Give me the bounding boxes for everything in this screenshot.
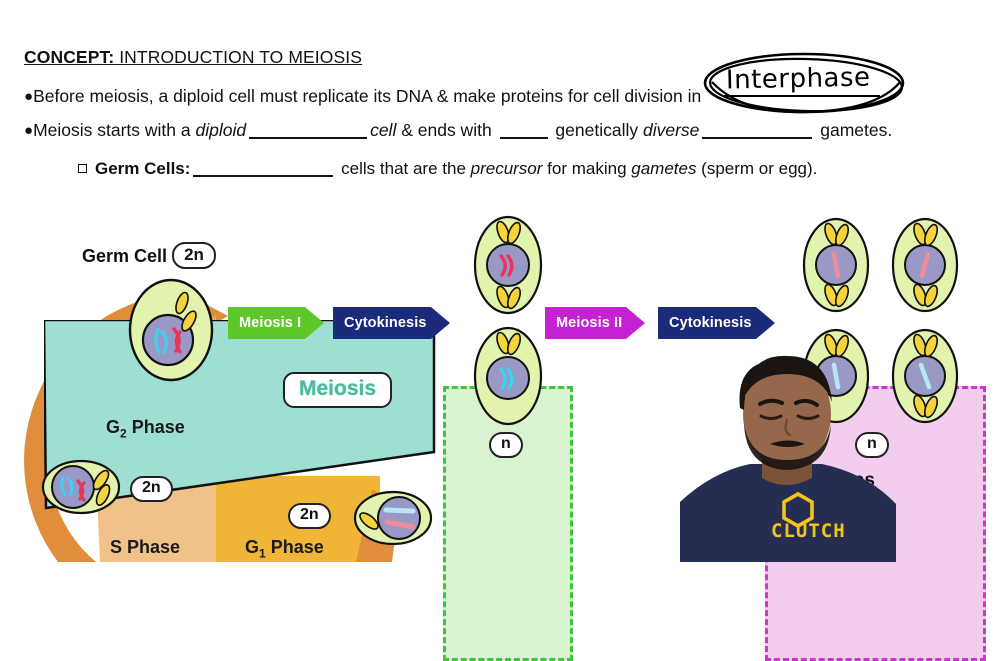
- bullet-2-part1: Meiosis starts with a: [33, 120, 195, 140]
- bullet-2-italic-diverse: diverse: [643, 120, 699, 140]
- phase-suffix: Phase: [127, 417, 185, 437]
- phase-label-s: S Phase: [110, 537, 180, 558]
- meiosis-funnel: [44, 320, 454, 510]
- bullet-2-part3: & ends with: [396, 120, 496, 140]
- ploidy-badge-g2: 2n: [130, 476, 173, 502]
- subbullet-part1: cells that are the: [336, 159, 470, 178]
- phase-label-g2: G2 Phase: [106, 417, 185, 441]
- subbullet-italic-gametes: gametes: [631, 159, 696, 178]
- ploidy-badge-haploid-green: n: [489, 432, 523, 458]
- bullet-1-text: Before meiosis, a diploid cell must repl…: [33, 86, 701, 106]
- sub-bullet-germ-cells: Germ Cells: cells that are the precursor…: [78, 159, 817, 179]
- phase-name: S: [110, 537, 122, 557]
- answer-blank-germ-cells[interactable]: [193, 175, 333, 177]
- answer-blank-haploid[interactable]: [702, 137, 812, 139]
- arrow-label: Meiosis II: [556, 315, 622, 331]
- phase-name: G: [245, 537, 259, 557]
- arrow-label: Cytokinesis: [669, 315, 752, 331]
- phase-name: G: [106, 417, 120, 437]
- subbullet-italic-precursor: precursor: [471, 159, 543, 178]
- bullet-2-part4: genetically: [551, 120, 643, 140]
- meiosis-badge-label: Meiosis: [299, 377, 376, 400]
- germ-cell-label: Germ Cell 2n: [82, 242, 216, 269]
- germ-cells-term: Germ Cells:: [95, 159, 190, 178]
- handwritten-annotation: Interphase: [700, 52, 910, 114]
- bullet-1: ●Before meiosis, a diploid cell must rep…: [24, 86, 701, 107]
- concept-title: INTRODUCTION TO MEIOSIS: [114, 47, 362, 67]
- bullet-dot: ●: [24, 122, 33, 139]
- handwriting-text: Interphase: [726, 62, 871, 95]
- phase-suffix: Phase: [266, 537, 324, 557]
- concept-keyword: CONCEPT:: [24, 47, 114, 67]
- concept-heading: CONCEPT: INTRODUCTION TO MEIOSIS: [24, 47, 362, 68]
- haploid-cells-panel: [443, 386, 573, 661]
- square-bullet-icon: [78, 164, 87, 173]
- clutch-wordmark: CLUTCH: [771, 520, 846, 542]
- phase-subscript: 2: [120, 427, 127, 441]
- phase-suffix: Phase: [122, 537, 180, 557]
- bullet-2-part5: gametes.: [815, 120, 892, 140]
- answer-blank-count[interactable]: [500, 137, 548, 139]
- bullet-2-italic-diploid: diploid: [195, 120, 246, 140]
- phase-subscript: 1: [259, 547, 266, 561]
- bullet-2-italic-cell: cell: [370, 120, 396, 140]
- bullet-2: ●Meiosis starts with a diploidcell & end…: [24, 120, 892, 141]
- ploidy-badge-g1: 2n: [288, 503, 331, 529]
- germ-cell-text: Germ Cell: [82, 246, 167, 266]
- meiosis-badge: Meiosis: [283, 372, 392, 408]
- bullet-dot: ●: [24, 88, 33, 105]
- answer-blank-diploid[interactable]: [249, 137, 367, 139]
- phase-label-g1: G1 Phase: [245, 537, 324, 561]
- arrow-label: Cytokinesis: [344, 315, 427, 331]
- germ-cell-ploidy-badge: 2n: [172, 242, 216, 269]
- arrow-label: Meiosis I: [239, 315, 301, 331]
- subbullet-part2: for making: [542, 159, 631, 178]
- subbullet-part3: (sperm or egg).: [696, 159, 817, 178]
